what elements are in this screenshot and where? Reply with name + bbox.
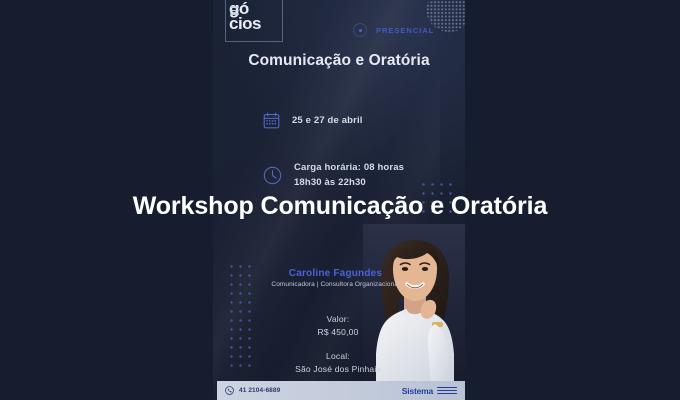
date-info-row: 25 e 27 de abril — [263, 112, 363, 129]
dot-grid-left-decoration — [227, 262, 254, 370]
poster-headline: Comunicação e Oratória — [213, 52, 465, 70]
footer-contact: 41 2104-6889 — [225, 382, 280, 400]
sistema-logo-icon — [437, 387, 457, 394]
local-value: São José dos Pinhais — [258, 363, 418, 376]
presencial-label: PRESENCIAL — [376, 26, 434, 35]
workload-info-row: Carga horária: 08 horas 18h30 às 22h30 — [263, 160, 404, 190]
negocios-logo: ne gó cios — [225, 0, 283, 42]
footer-phone: 41 2104-6889 — [239, 387, 280, 394]
speaker-info: Caroline Fagundes Comunicadora | Consult… — [253, 268, 418, 288]
price-block: Valor: R$ 450,00 — [258, 313, 418, 338]
presencial-badge: PRESENCIAL — [353, 23, 434, 37]
poster-screen: ne gó cios PRESENCIAL Comunicação e Orat… — [0, 0, 680, 400]
price-label: Valor: — [258, 313, 418, 326]
clock-icon — [263, 166, 282, 185]
logo-bars-icon — [230, 6, 239, 17]
footer-brand-group: Sistema — [402, 386, 457, 396]
whatsapp-icon — [225, 382, 234, 400]
date-text: 25 e 27 de abril — [292, 113, 363, 128]
speaker-name: Caroline Fagundes — [253, 268, 418, 279]
footer-brand-name: Sistema — [402, 386, 433, 396]
local-label: Local: — [258, 350, 418, 363]
poster-footer: 41 2104-6889 Sistema — [217, 381, 465, 400]
overlay-title: Workshop Comunicação e Oratória — [0, 192, 680, 221]
workload-text: Carga horária: 08 horas 18h30 às 22h30 — [294, 160, 404, 190]
bullet-dot-icon — [353, 23, 367, 37]
local-block: Local: São José dos Pinhais — [258, 350, 418, 375]
calendar-icon — [263, 112, 280, 129]
price-value: R$ 450,00 — [258, 326, 418, 339]
speaker-role: Comunicadora | Consultora Organizacional — [253, 281, 418, 288]
